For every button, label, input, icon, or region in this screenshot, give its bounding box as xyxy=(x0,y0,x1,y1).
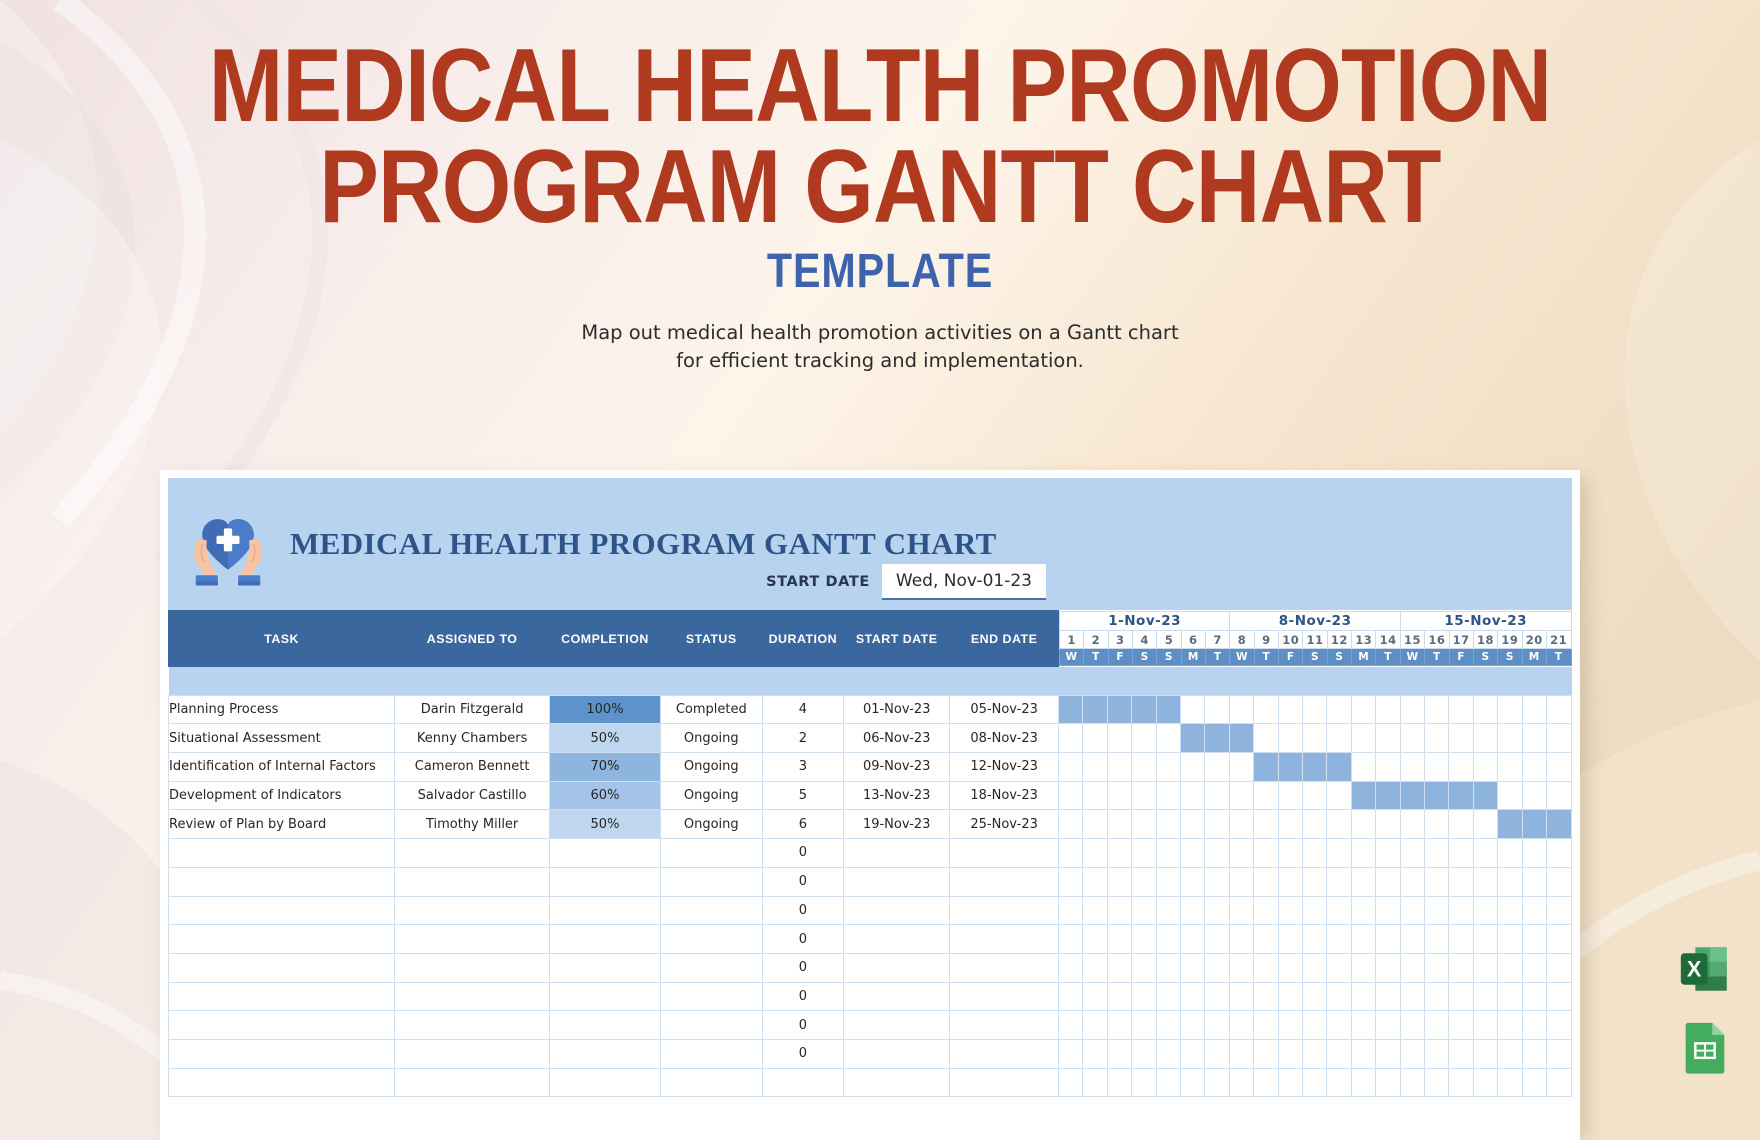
gantt-empty-cell[interactable] xyxy=(1449,753,1473,782)
cell-status[interactable] xyxy=(660,839,762,868)
gantt-empty-cell[interactable] xyxy=(1547,982,1572,1011)
gantt-empty-cell[interactable] xyxy=(1351,953,1375,982)
gantt-empty-cell[interactable] xyxy=(1278,1039,1302,1068)
gantt-empty-cell[interactable] xyxy=(1351,896,1375,925)
gantt-empty-cell[interactable] xyxy=(1083,953,1107,982)
gantt-empty-cell[interactable] xyxy=(1522,753,1546,782)
table-row[interactable]: 0 xyxy=(169,982,1572,1011)
gantt-empty-cell[interactable] xyxy=(1132,1011,1156,1040)
gantt-empty-cell[interactable] xyxy=(1132,925,1156,954)
gantt-empty-cell[interactable] xyxy=(1400,867,1424,896)
excel-file-icon[interactable]: X xyxy=(1676,940,1734,998)
cell-status[interactable]: Completed xyxy=(660,695,762,724)
gantt-empty-cell[interactable] xyxy=(1547,839,1572,868)
gantt-empty-cell[interactable] xyxy=(1302,810,1326,839)
cell-task[interactable]: Review of Plan by Board xyxy=(169,810,395,839)
gantt-empty-cell[interactable] xyxy=(1425,839,1449,868)
gantt-empty-cell[interactable] xyxy=(1327,982,1351,1011)
gantt-empty-cell[interactable] xyxy=(1205,810,1229,839)
gantt-empty-cell[interactable] xyxy=(1058,867,1082,896)
gantt-empty-cell[interactable] xyxy=(1229,810,1253,839)
gantt-empty-cell[interactable] xyxy=(1229,925,1253,954)
gantt-empty-cell[interactable] xyxy=(1425,953,1449,982)
gantt-bar-cell[interactable] xyxy=(1547,810,1572,839)
gantt-bar-cell[interactable] xyxy=(1107,695,1131,724)
gantt-empty-cell[interactable] xyxy=(1547,724,1572,753)
table-row[interactable]: Situational AssessmentKenny Chambers50%O… xyxy=(169,724,1572,753)
gantt-empty-cell[interactable] xyxy=(1400,1011,1424,1040)
table-row[interactable]: 0 xyxy=(169,896,1572,925)
gantt-empty-cell[interactable] xyxy=(1058,896,1082,925)
gantt-empty-cell[interactable] xyxy=(1083,867,1107,896)
gantt-empty-cell[interactable] xyxy=(1449,896,1473,925)
gantt-empty-cell[interactable] xyxy=(1278,925,1302,954)
gantt-empty-cell[interactable] xyxy=(1302,695,1326,724)
gantt-empty-cell[interactable] xyxy=(1180,753,1204,782)
gantt-empty-cell[interactable] xyxy=(1156,867,1180,896)
gantt-empty-cell[interactable] xyxy=(1302,896,1326,925)
gantt-empty-cell[interactable] xyxy=(1083,982,1107,1011)
gantt-empty-cell[interactable] xyxy=(1083,925,1107,954)
gantt-empty-cell[interactable] xyxy=(1400,724,1424,753)
gantt-empty-cell[interactable] xyxy=(1498,1011,1522,1040)
gantt-empty-cell[interactable] xyxy=(1180,953,1204,982)
cell-completion[interactable] xyxy=(550,896,661,925)
gantt-empty-cell[interactable] xyxy=(1107,867,1131,896)
gantt-empty-cell[interactable] xyxy=(1498,753,1522,782)
gantt-empty-cell[interactable] xyxy=(1132,982,1156,1011)
gantt-empty-cell[interactable] xyxy=(1498,1068,1522,1097)
gantt-empty-cell[interactable] xyxy=(1229,1039,1253,1068)
gantt-empty-cell[interactable] xyxy=(1205,953,1229,982)
gantt-empty-cell[interactable] xyxy=(1473,695,1497,724)
gantt-empty-cell[interactable] xyxy=(1083,1068,1107,1097)
gantt-empty-cell[interactable] xyxy=(1376,839,1400,868)
cell-completion[interactable] xyxy=(550,953,661,982)
gantt-empty-cell[interactable] xyxy=(1522,867,1546,896)
gantt-empty-cell[interactable] xyxy=(1058,753,1082,782)
gantt-empty-cell[interactable] xyxy=(1351,753,1375,782)
gantt-empty-cell[interactable] xyxy=(1205,867,1229,896)
gantt-empty-cell[interactable] xyxy=(1400,753,1424,782)
gantt-empty-cell[interactable] xyxy=(1107,1068,1131,1097)
cell-end-date[interactable] xyxy=(950,867,1059,896)
cell-assigned-to[interactable] xyxy=(395,896,550,925)
gantt-empty-cell[interactable] xyxy=(1107,781,1131,810)
gantt-empty-cell[interactable] xyxy=(1376,953,1400,982)
gantt-empty-cell[interactable] xyxy=(1327,1068,1351,1097)
cell-status[interactable] xyxy=(660,925,762,954)
cell-duration[interactable]: 0 xyxy=(762,925,843,954)
cell-task[interactable]: Identification of Internal Factors xyxy=(169,753,395,782)
gantt-empty-cell[interactable] xyxy=(1327,1039,1351,1068)
cell-status[interactable] xyxy=(660,1068,762,1097)
gantt-empty-cell[interactable] xyxy=(1229,1068,1253,1097)
gantt-empty-cell[interactable] xyxy=(1278,982,1302,1011)
gantt-empty-cell[interactable] xyxy=(1180,781,1204,810)
cell-assigned-to[interactable]: Darin Fitzgerald xyxy=(395,695,550,724)
gantt-empty-cell[interactable] xyxy=(1205,1011,1229,1040)
gantt-empty-cell[interactable] xyxy=(1522,925,1546,954)
cell-start-date[interactable] xyxy=(844,867,950,896)
gantt-empty-cell[interactable] xyxy=(1327,810,1351,839)
gantt-empty-cell[interactable] xyxy=(1522,695,1546,724)
gantt-empty-cell[interactable] xyxy=(1425,1068,1449,1097)
gantt-empty-cell[interactable] xyxy=(1229,695,1253,724)
gantt-empty-cell[interactable] xyxy=(1132,953,1156,982)
gantt-bar-cell[interactable] xyxy=(1400,781,1424,810)
google-sheets-file-icon[interactable] xyxy=(1676,1018,1734,1076)
gantt-empty-cell[interactable] xyxy=(1278,724,1302,753)
cell-start-date[interactable]: 09-Nov-23 xyxy=(844,753,950,782)
cell-status[interactable] xyxy=(660,982,762,1011)
gantt-empty-cell[interactable] xyxy=(1425,1039,1449,1068)
gantt-empty-cell[interactable] xyxy=(1351,724,1375,753)
gantt-empty-cell[interactable] xyxy=(1180,925,1204,954)
gantt-empty-cell[interactable] xyxy=(1302,724,1326,753)
gantt-bar-cell[interactable] xyxy=(1473,781,1497,810)
gantt-empty-cell[interactable] xyxy=(1498,982,1522,1011)
gantt-empty-cell[interactable] xyxy=(1400,953,1424,982)
gantt-empty-cell[interactable] xyxy=(1107,896,1131,925)
gantt-empty-cell[interactable] xyxy=(1107,810,1131,839)
gantt-bar-cell[interactable] xyxy=(1351,781,1375,810)
gantt-empty-cell[interactable] xyxy=(1547,781,1572,810)
gantt-empty-cell[interactable] xyxy=(1205,1039,1229,1068)
gantt-empty-cell[interactable] xyxy=(1498,781,1522,810)
gantt-empty-cell[interactable] xyxy=(1107,1011,1131,1040)
cell-duration[interactable]: 6 xyxy=(762,810,843,839)
gantt-empty-cell[interactable] xyxy=(1180,839,1204,868)
cell-end-date[interactable] xyxy=(950,896,1059,925)
gantt-empty-cell[interactable] xyxy=(1449,810,1473,839)
cell-completion[interactable] xyxy=(550,1011,661,1040)
cell-completion[interactable]: 60% xyxy=(550,781,661,810)
cell-assigned-to[interactable] xyxy=(395,839,550,868)
gantt-empty-cell[interactable] xyxy=(1376,695,1400,724)
cell-duration[interactable] xyxy=(762,1068,843,1097)
gantt-empty-cell[interactable] xyxy=(1498,925,1522,954)
cell-status[interactable] xyxy=(660,867,762,896)
table-row[interactable]: 0 xyxy=(169,953,1572,982)
gantt-empty-cell[interactable] xyxy=(1180,810,1204,839)
cell-start-date[interactable]: 19-Nov-23 xyxy=(844,810,950,839)
gantt-empty-cell[interactable] xyxy=(1547,1068,1572,1097)
gantt-empty-cell[interactable] xyxy=(1107,953,1131,982)
gantt-empty-cell[interactable] xyxy=(1205,982,1229,1011)
cell-end-date[interactable] xyxy=(950,925,1059,954)
cell-duration[interactable]: 0 xyxy=(762,867,843,896)
gantt-empty-cell[interactable] xyxy=(1400,982,1424,1011)
gantt-empty-cell[interactable] xyxy=(1107,982,1131,1011)
gantt-empty-cell[interactable] xyxy=(1498,695,1522,724)
gantt-empty-cell[interactable] xyxy=(1180,1039,1204,1068)
gantt-empty-cell[interactable] xyxy=(1229,1011,1253,1040)
gantt-empty-cell[interactable] xyxy=(1229,781,1253,810)
gantt-empty-cell[interactable] xyxy=(1205,896,1229,925)
gantt-empty-cell[interactable] xyxy=(1449,1039,1473,1068)
start-date-input[interactable]: Wed, Nov-01-23 xyxy=(882,564,1046,600)
gantt-empty-cell[interactable] xyxy=(1058,1039,1082,1068)
gantt-empty-cell[interactable] xyxy=(1498,953,1522,982)
gantt-empty-cell[interactable] xyxy=(1156,896,1180,925)
cell-assigned-to[interactable] xyxy=(395,925,550,954)
gantt-empty-cell[interactable] xyxy=(1498,839,1522,868)
cell-assigned-to[interactable] xyxy=(395,982,550,1011)
gantt-empty-cell[interactable] xyxy=(1400,810,1424,839)
gantt-empty-cell[interactable] xyxy=(1156,1068,1180,1097)
gantt-empty-cell[interactable] xyxy=(1547,1011,1572,1040)
cell-completion[interactable]: 50% xyxy=(550,810,661,839)
gantt-empty-cell[interactable] xyxy=(1132,839,1156,868)
gantt-empty-cell[interactable] xyxy=(1132,810,1156,839)
gantt-empty-cell[interactable] xyxy=(1351,1068,1375,1097)
gantt-empty-cell[interactable] xyxy=(1473,896,1497,925)
gantt-empty-cell[interactable] xyxy=(1327,953,1351,982)
gantt-empty-cell[interactable] xyxy=(1083,1039,1107,1068)
gantt-empty-cell[interactable] xyxy=(1400,925,1424,954)
cell-task[interactable] xyxy=(169,896,395,925)
gantt-empty-cell[interactable] xyxy=(1522,1068,1546,1097)
cell-task[interactable]: Planning Process xyxy=(169,695,395,724)
gantt-empty-cell[interactable] xyxy=(1473,753,1497,782)
gantt-empty-cell[interactable] xyxy=(1522,724,1546,753)
cell-task[interactable]: Development of Indicators xyxy=(169,781,395,810)
gantt-empty-cell[interactable] xyxy=(1449,953,1473,982)
cell-task[interactable] xyxy=(169,953,395,982)
gantt-empty-cell[interactable] xyxy=(1498,896,1522,925)
gantt-bar-cell[interactable] xyxy=(1425,781,1449,810)
gantt-empty-cell[interactable] xyxy=(1083,810,1107,839)
cell-assigned-to[interactable] xyxy=(395,1011,550,1040)
gantt-empty-cell[interactable] xyxy=(1302,781,1326,810)
gantt-empty-cell[interactable] xyxy=(1327,896,1351,925)
gantt-empty-cell[interactable] xyxy=(1107,753,1131,782)
gantt-bar-cell[interactable] xyxy=(1449,781,1473,810)
cell-duration[interactable]: 0 xyxy=(762,1011,843,1040)
cell-start-date[interactable] xyxy=(844,1011,950,1040)
gantt-empty-cell[interactable] xyxy=(1132,724,1156,753)
gantt-empty-cell[interactable] xyxy=(1229,867,1253,896)
gantt-empty-cell[interactable] xyxy=(1156,982,1180,1011)
table-row[interactable]: Planning ProcessDarin Fitzgerald100%Comp… xyxy=(169,695,1572,724)
gantt-empty-cell[interactable] xyxy=(1107,1039,1131,1068)
gantt-empty-cell[interactable] xyxy=(1473,1068,1497,1097)
gantt-empty-cell[interactable] xyxy=(1229,896,1253,925)
gantt-empty-cell[interactable] xyxy=(1425,896,1449,925)
table-row[interactable]: Review of Plan by BoardTimothy Miller50%… xyxy=(169,810,1572,839)
gantt-empty-cell[interactable] xyxy=(1083,1011,1107,1040)
gantt-empty-cell[interactable] xyxy=(1278,1011,1302,1040)
cell-duration[interactable]: 4 xyxy=(762,695,843,724)
cell-status[interactable]: Ongoing xyxy=(660,724,762,753)
gantt-empty-cell[interactable] xyxy=(1156,810,1180,839)
gantt-empty-cell[interactable] xyxy=(1547,695,1572,724)
cell-duration[interactable]: 0 xyxy=(762,953,843,982)
gantt-empty-cell[interactable] xyxy=(1083,753,1107,782)
cell-assigned-to[interactable]: Timothy Miller xyxy=(395,810,550,839)
cell-status[interactable]: Ongoing xyxy=(660,753,762,782)
gantt-empty-cell[interactable] xyxy=(1449,982,1473,1011)
gantt-empty-cell[interactable] xyxy=(1473,810,1497,839)
gantt-empty-cell[interactable] xyxy=(1278,810,1302,839)
gantt-empty-cell[interactable] xyxy=(1254,1011,1278,1040)
gantt-empty-cell[interactable] xyxy=(1107,724,1131,753)
gantt-empty-cell[interactable] xyxy=(1449,724,1473,753)
gantt-empty-cell[interactable] xyxy=(1132,867,1156,896)
gantt-empty-cell[interactable] xyxy=(1058,724,1082,753)
table-row[interactable]: Identification of Internal FactorsCamero… xyxy=(169,753,1572,782)
gantt-empty-cell[interactable] xyxy=(1522,896,1546,925)
gantt-empty-cell[interactable] xyxy=(1156,781,1180,810)
gantt-empty-cell[interactable] xyxy=(1229,953,1253,982)
gantt-empty-cell[interactable] xyxy=(1376,724,1400,753)
gantt-empty-cell[interactable] xyxy=(1302,839,1326,868)
gantt-empty-cell[interactable] xyxy=(1376,1039,1400,1068)
gantt-empty-cell[interactable] xyxy=(1327,1011,1351,1040)
gantt-empty-cell[interactable] xyxy=(1278,953,1302,982)
gantt-empty-cell[interactable] xyxy=(1473,1011,1497,1040)
gantt-empty-cell[interactable] xyxy=(1425,867,1449,896)
gantt-empty-cell[interactable] xyxy=(1156,925,1180,954)
table-row[interactable]: 0 xyxy=(169,1039,1572,1068)
cell-start-date[interactable] xyxy=(844,896,950,925)
gantt-empty-cell[interactable] xyxy=(1449,867,1473,896)
cell-duration[interactable]: 0 xyxy=(762,982,843,1011)
cell-assigned-to[interactable]: Cameron Bennett xyxy=(395,753,550,782)
cell-start-date[interactable] xyxy=(844,839,950,868)
gantt-empty-cell[interactable] xyxy=(1254,810,1278,839)
gantt-empty-cell[interactable] xyxy=(1132,896,1156,925)
gantt-empty-cell[interactable] xyxy=(1058,1011,1082,1040)
gantt-empty-cell[interactable] xyxy=(1083,896,1107,925)
cell-start-date[interactable] xyxy=(844,1068,950,1097)
cell-completion[interactable]: 70% xyxy=(550,753,661,782)
gantt-empty-cell[interactable] xyxy=(1327,839,1351,868)
gantt-empty-cell[interactable] xyxy=(1132,1068,1156,1097)
gantt-empty-cell[interactable] xyxy=(1351,839,1375,868)
gantt-empty-cell[interactable] xyxy=(1278,781,1302,810)
gantt-bar-cell[interactable] xyxy=(1132,695,1156,724)
gantt-empty-cell[interactable] xyxy=(1156,753,1180,782)
gantt-empty-cell[interactable] xyxy=(1278,867,1302,896)
gantt-bar-cell[interactable] xyxy=(1156,695,1180,724)
cell-duration[interactable]: 3 xyxy=(762,753,843,782)
gantt-empty-cell[interactable] xyxy=(1205,839,1229,868)
gantt-empty-cell[interactable] xyxy=(1254,1068,1278,1097)
cell-task[interactable] xyxy=(169,982,395,1011)
gantt-empty-cell[interactable] xyxy=(1376,1068,1400,1097)
gantt-empty-cell[interactable] xyxy=(1083,839,1107,868)
cell-assigned-to[interactable] xyxy=(395,867,550,896)
gantt-empty-cell[interactable] xyxy=(1351,925,1375,954)
gantt-empty-cell[interactable] xyxy=(1547,925,1572,954)
gantt-empty-cell[interactable] xyxy=(1351,1039,1375,1068)
cell-status[interactable] xyxy=(660,1011,762,1040)
cell-completion[interactable] xyxy=(550,1039,661,1068)
cell-completion[interactable] xyxy=(550,982,661,1011)
gantt-empty-cell[interactable] xyxy=(1376,896,1400,925)
gantt-empty-cell[interactable] xyxy=(1107,839,1131,868)
gantt-empty-cell[interactable] xyxy=(1449,695,1473,724)
gantt-bar-cell[interactable] xyxy=(1522,810,1546,839)
cell-start-date[interactable] xyxy=(844,953,950,982)
gantt-empty-cell[interactable] xyxy=(1351,867,1375,896)
gantt-empty-cell[interactable] xyxy=(1376,810,1400,839)
cell-end-date[interactable] xyxy=(950,1068,1059,1097)
gantt-empty-cell[interactable] xyxy=(1473,953,1497,982)
gantt-bar-cell[interactable] xyxy=(1498,810,1522,839)
cell-status[interactable] xyxy=(660,953,762,982)
gantt-empty-cell[interactable] xyxy=(1156,1011,1180,1040)
cell-end-date[interactable] xyxy=(950,1011,1059,1040)
gantt-empty-cell[interactable] xyxy=(1400,1068,1424,1097)
table-row[interactable]: Development of IndicatorsSalvador Castil… xyxy=(169,781,1572,810)
gantt-empty-cell[interactable] xyxy=(1278,1068,1302,1097)
cell-duration[interactable]: 0 xyxy=(762,896,843,925)
cell-task[interactable] xyxy=(169,925,395,954)
gantt-empty-cell[interactable] xyxy=(1083,724,1107,753)
gantt-empty-cell[interactable] xyxy=(1547,953,1572,982)
gantt-empty-cell[interactable] xyxy=(1156,839,1180,868)
gantt-empty-cell[interactable] xyxy=(1254,953,1278,982)
gantt-empty-cell[interactable] xyxy=(1327,695,1351,724)
cell-start-date[interactable] xyxy=(844,1039,950,1068)
gantt-empty-cell[interactable] xyxy=(1522,839,1546,868)
table-row[interactable]: 0 xyxy=(169,1011,1572,1040)
cell-start-date[interactable] xyxy=(844,982,950,1011)
gantt-empty-cell[interactable] xyxy=(1205,695,1229,724)
gantt-empty-cell[interactable] xyxy=(1205,1068,1229,1097)
cell-task[interactable] xyxy=(169,1039,395,1068)
gantt-empty-cell[interactable] xyxy=(1376,982,1400,1011)
gantt-empty-cell[interactable] xyxy=(1132,781,1156,810)
gantt-empty-cell[interactable] xyxy=(1400,695,1424,724)
gantt-empty-cell[interactable] xyxy=(1522,953,1546,982)
gantt-empty-cell[interactable] xyxy=(1205,781,1229,810)
gantt-empty-cell[interactable] xyxy=(1132,1039,1156,1068)
cell-duration[interactable]: 2 xyxy=(762,724,843,753)
gantt-empty-cell[interactable] xyxy=(1498,867,1522,896)
gantt-empty-cell[interactable] xyxy=(1473,982,1497,1011)
cell-assigned-to[interactable]: Kenny Chambers xyxy=(395,724,550,753)
cell-duration[interactable]: 0 xyxy=(762,1039,843,1068)
gantt-empty-cell[interactable] xyxy=(1473,1039,1497,1068)
cell-assigned-to[interactable] xyxy=(395,1039,550,1068)
gantt-empty-cell[interactable] xyxy=(1425,724,1449,753)
cell-task[interactable] xyxy=(169,839,395,868)
gantt-empty-cell[interactable] xyxy=(1376,867,1400,896)
gantt-empty-cell[interactable] xyxy=(1449,1011,1473,1040)
gantt-empty-cell[interactable] xyxy=(1180,695,1204,724)
gantt-empty-cell[interactable] xyxy=(1547,753,1572,782)
gantt-empty-cell[interactable] xyxy=(1547,867,1572,896)
gantt-empty-cell[interactable] xyxy=(1547,1039,1572,1068)
gantt-empty-cell[interactable] xyxy=(1473,925,1497,954)
gantt-empty-cell[interactable] xyxy=(1302,925,1326,954)
gantt-bar-cell[interactable] xyxy=(1205,724,1229,753)
gantt-empty-cell[interactable] xyxy=(1425,1011,1449,1040)
gantt-empty-cell[interactable] xyxy=(1229,982,1253,1011)
gantt-empty-cell[interactable] xyxy=(1302,982,1326,1011)
cell-start-date[interactable]: 13-Nov-23 xyxy=(844,781,950,810)
gantt-empty-cell[interactable] xyxy=(1400,1039,1424,1068)
gantt-empty-cell[interactable] xyxy=(1254,867,1278,896)
cell-completion[interactable]: 50% xyxy=(550,724,661,753)
gantt-empty-cell[interactable] xyxy=(1327,781,1351,810)
gantt-empty-cell[interactable] xyxy=(1400,896,1424,925)
cell-task[interactable] xyxy=(169,867,395,896)
